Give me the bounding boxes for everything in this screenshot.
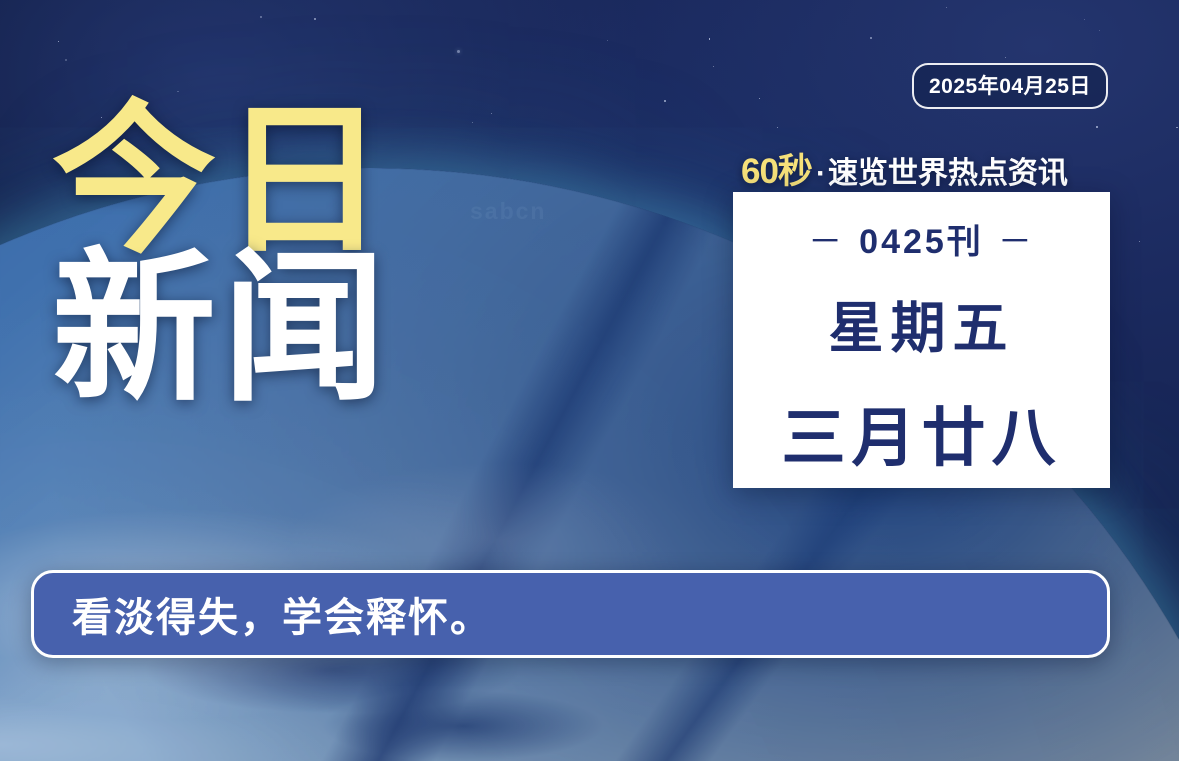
quote-banner: 看淡得失，学会释怀。 [31, 570, 1110, 658]
weekday-label: 星期五 [828, 283, 1014, 363]
quote-text: 看淡得失，学会释怀。 [72, 585, 492, 643]
tagline-seconds: 60秒 [741, 152, 812, 191]
page-title: 今日 新闻 [52, 104, 392, 406]
poster-canvas: sabcn 2025年04月25日 今日 新闻 60秒·速览世界热点资讯 － 0… [0, 0, 1179, 761]
date-badge: 2025年04月25日 [912, 63, 1108, 109]
tagline: 60秒·速览世界热点资讯 [741, 143, 1068, 194]
lunar-date-label: 三月廿八 [782, 387, 1062, 479]
issue-row: － 0425刊 － [808, 214, 1035, 263]
site-watermark: sabcn [470, 198, 546, 225]
date-card: － 0425刊 － 星期五 三月廿八 [733, 192, 1110, 488]
dash-right: － [998, 214, 1035, 263]
tagline-separator: · [816, 157, 826, 190]
tagline-text: 速览世界热点资讯 [828, 157, 1068, 190]
title-line-jinri: 今日 [52, 104, 392, 258]
issue-number: 0425刊 [859, 214, 984, 263]
title-line-xinwen: 新闻 [52, 252, 392, 406]
dash-left: － [808, 214, 845, 263]
